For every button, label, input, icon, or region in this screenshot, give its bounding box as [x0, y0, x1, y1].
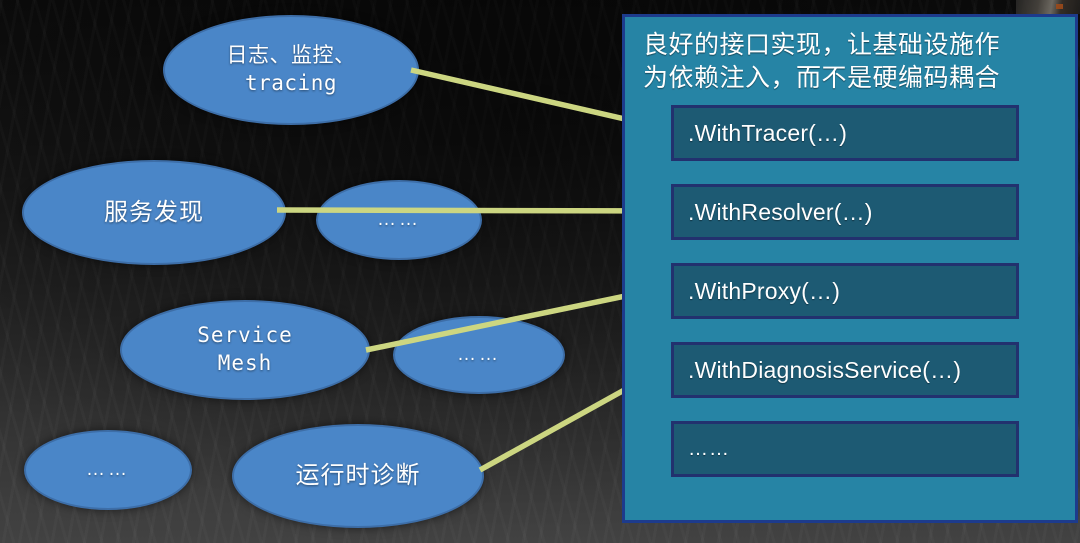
ellipse-more-2[interactable]: …… — [393, 316, 565, 394]
code-box-label: .WithProxy(…) — [688, 278, 840, 305]
code-box-label: .WithDiagnosisService(…) — [688, 357, 961, 384]
ellipse-label: …… — [377, 207, 421, 232]
ellipse-logging-monitoring-tracing[interactable]: 日志、监控、 tracing — [163, 15, 419, 125]
code-box-with-resolver[interactable]: .WithResolver(…) — [671, 184, 1019, 240]
ellipse-label: …… — [86, 457, 130, 482]
ellipse-label: 日志、监控、 tracing — [227, 42, 356, 97]
ellipse-more-3[interactable]: …… — [24, 430, 192, 510]
ellipse-service-mesh[interactable]: Service Mesh — [120, 300, 370, 400]
panel-heading: 良好的接口实现，让基础设施作 为依赖注入，而不是硬编码耦合 — [625, 17, 1075, 95]
ellipse-label: 服务发现 — [104, 197, 204, 229]
code-box-with-diagnosis-service[interactable]: .WithDiagnosisService(…) — [671, 342, 1019, 398]
ellipse-label: 运行时诊断 — [296, 460, 421, 492]
background-image-artifact — [1016, 0, 1080, 14]
ellipse-label: Service Mesh — [197, 322, 293, 377]
code-box-label: .WithTracer(…) — [688, 120, 847, 147]
code-box-with-proxy[interactable]: .WithProxy(…) — [671, 263, 1019, 319]
code-box-list: .WithTracer(…) .WithResolver(…) .WithPro… — [671, 105, 1019, 500]
code-box-with-tracer[interactable]: .WithTracer(…) — [671, 105, 1019, 161]
ellipse-more-1[interactable]: …… — [316, 180, 482, 260]
code-box-label: .WithResolver(…) — [688, 199, 873, 226]
artifact-highlight — [1056, 4, 1063, 9]
code-box-more[interactable]: …… — [671, 421, 1019, 477]
ellipse-service-discovery[interactable]: 服务发现 — [22, 160, 286, 265]
right-panel: 良好的接口实现，让基础设施作 为依赖注入，而不是硬编码耦合 .WithTrace… — [622, 14, 1078, 523]
ellipse-runtime-diagnosis[interactable]: 运行时诊断 — [232, 424, 484, 528]
code-box-label: …… — [688, 438, 730, 461]
slide-canvas: 日志、监控、 tracing 服务发现 …… Service Mesh …… …… — [0, 0, 1080, 543]
ellipse-label: …… — [457, 342, 501, 367]
